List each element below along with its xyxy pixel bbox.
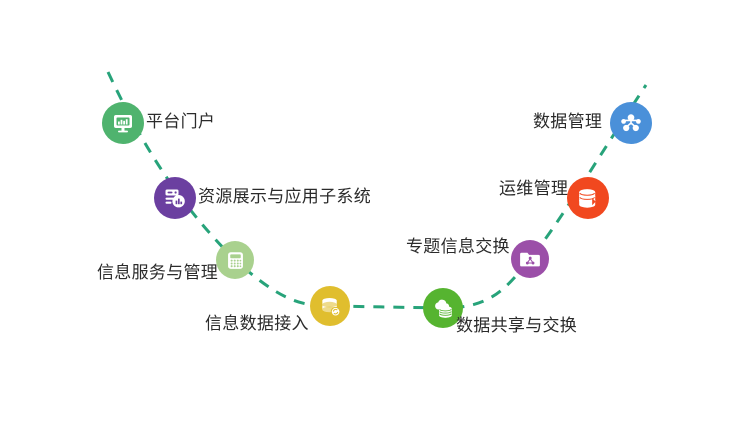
monitor-chart-icon [111, 111, 135, 135]
cloud-coins-icon [431, 296, 455, 320]
grid-calculator-icon [225, 250, 246, 271]
node-thematic-information-exchange[interactable] [511, 240, 549, 278]
node-platform-portal[interactable] [102, 102, 144, 144]
node-information-data-access[interactable] [310, 286, 350, 326]
node-label-operations-maintenance-management: 运维管理 [499, 180, 568, 197]
diagram-canvas: 平台门户 资源展示与应用子系统 [0, 0, 740, 448]
node-label-data-sharing-exchange: 数据共享与交换 [456, 317, 577, 334]
node-label-data-management: 数据管理 [533, 113, 602, 130]
network-nodes-icon [619, 111, 643, 135]
node-information-service-management[interactable] [216, 241, 254, 279]
connector-curve [0, 0, 740, 448]
node-label-information-data-access: 信息数据接入 [205, 315, 309, 332]
node-label-thematic-information-exchange: 专题信息交换 [406, 238, 510, 255]
node-label-information-service-management: 信息服务与管理 [97, 264, 218, 281]
node-data-management[interactable] [610, 102, 652, 144]
node-resource-display-subsystem[interactable] [154, 177, 196, 219]
folder-share-icon [519, 248, 541, 270]
node-label-platform-portal: 平台门户 [146, 113, 215, 130]
database-stack-icon [576, 186, 600, 210]
node-operations-maintenance-management[interactable] [567, 177, 609, 219]
node-label-resource-display-subsystem: 资源展示与应用子系统 [198, 188, 371, 205]
server-chart-icon [163, 186, 187, 210]
database-refresh-icon [319, 295, 342, 318]
